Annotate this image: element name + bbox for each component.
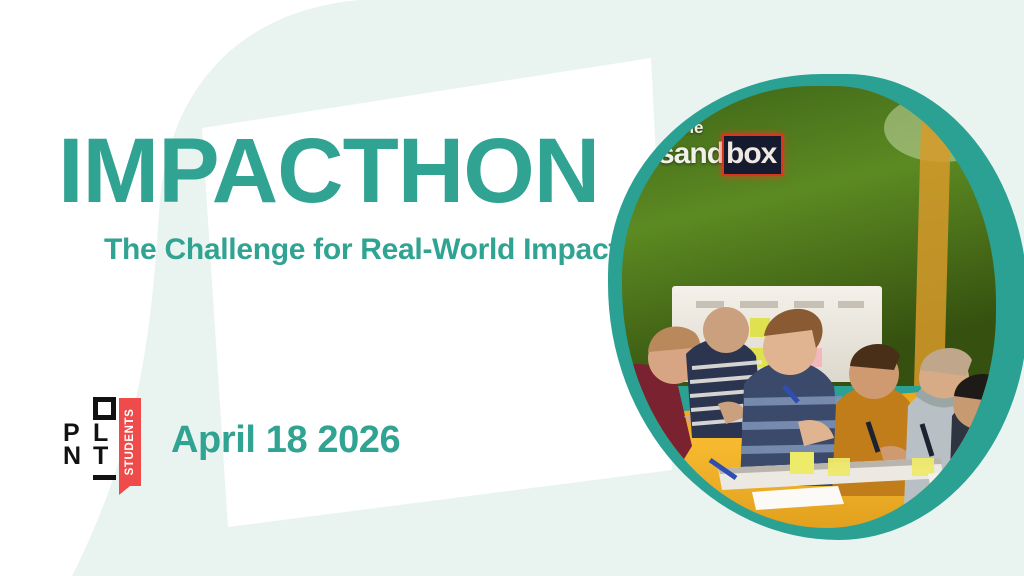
logo-underscore-icon	[93, 475, 116, 480]
sign-box-label: box	[722, 134, 783, 176]
logo-square-icon	[93, 397, 116, 420]
event-banner: IMPACTHON The Challenge for Real-World I…	[0, 0, 1024, 576]
hero-photo-blob: the sand box	[608, 74, 1024, 540]
logo-letter-t: T	[93, 445, 108, 468]
students-banner-label: STUDENTS	[124, 409, 136, 476]
event-date: April 18 2026	[171, 420, 400, 462]
logo-letter-n: N	[63, 445, 81, 468]
students-ribbon-banner: STUDENTS	[119, 398, 141, 486]
sign-the-label: the	[678, 120, 818, 135]
page-title: IMPACTHON	[58, 126, 599, 216]
plnt-students-logo[interactable]: P L N T STUDENTS	[62, 396, 152, 488]
sign-sand-label: sand	[658, 137, 724, 171]
sandbox-wall-sign: the sand box	[658, 120, 818, 176]
subtitle: The Challenge for Real-World Impact	[104, 233, 618, 266]
